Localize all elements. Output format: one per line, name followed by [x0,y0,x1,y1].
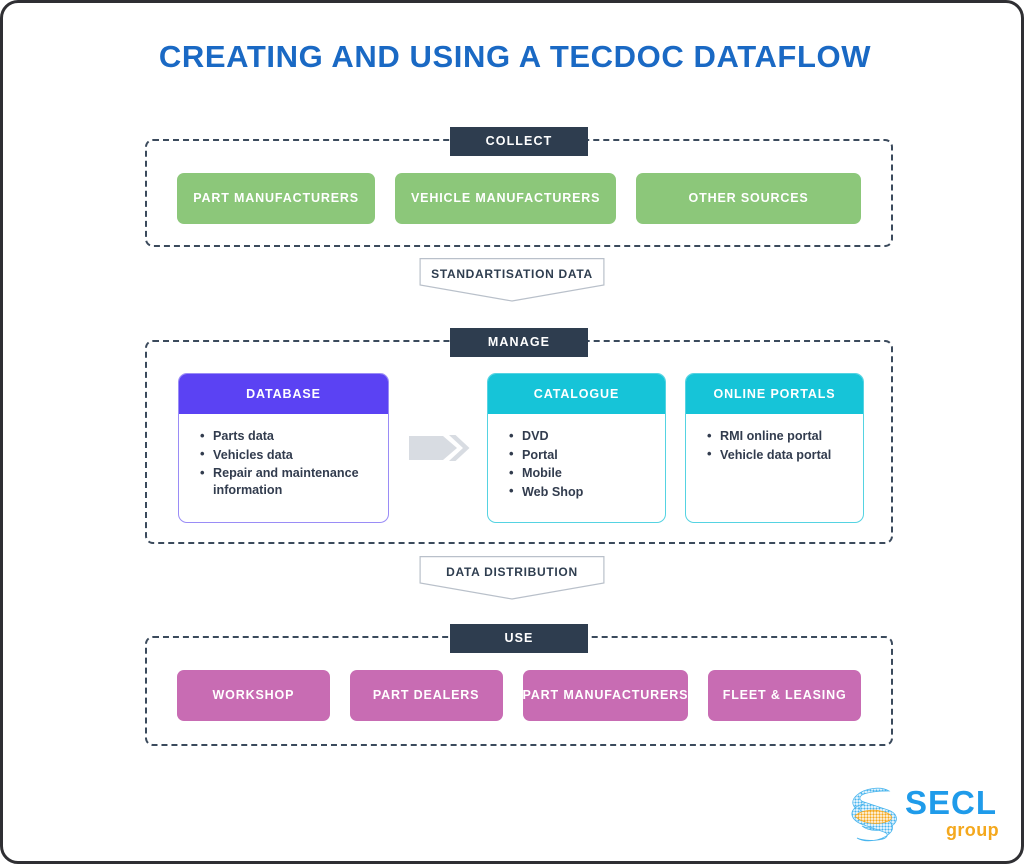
card-online-portals-body: RMI online portal Vehicle data portal [686,414,863,475]
card-database[interactable]: DATABASE Parts data Vehicles data Repair… [178,373,389,523]
card-catalogue-title: CATALOGUE [488,374,665,414]
stage-manage-header: MANAGE [450,328,588,357]
banner-data-distribution: DATA DISTRIBUTION [420,556,605,600]
use-pill-row: WORKSHOP PART DEALERS PART MANUFACTURERS… [177,670,861,721]
stage-manage: MANAGE DATABASE Parts data Vehicles data… [145,340,893,544]
card-database-list: Parts data Vehicles data Repair and main… [193,428,374,498]
list-item: Web Shop [522,484,651,501]
diagram-canvas: CREATING AND USING A TECDOC DATAFLOW COL… [0,0,1024,864]
use-pill-workshop[interactable]: WORKSHOP [177,670,330,721]
use-pill-fleet-leasing[interactable]: FLEET & LEASING [708,670,861,721]
list-item: Vehicle data portal [720,447,849,464]
banner-standardisation-label: STANDARTISATION DATA [420,258,605,291]
use-pill-part-dealers[interactable]: PART DEALERS [350,670,503,721]
stage-collect: COLLECT PART MANUFACTURERS VEHICLE MANUF… [145,139,893,247]
list-item: Vehicles data [213,447,374,464]
secl-group-logo: SECL group [845,784,997,848]
collect-pill-part-manufacturers[interactable]: PART MANUFACTURERS [177,173,375,224]
list-item: Mobile [522,465,651,482]
list-item: Parts data [213,428,374,445]
list-item: DVD [522,428,651,445]
stage-use: USE WORKSHOP PART DEALERS PART MANUFACTU… [145,636,893,746]
secl-logo-text: SECL group [905,786,1001,840]
card-catalogue-body: DVD Portal Mobile Web Shop [488,414,665,512]
card-online-portals-list: RMI online portal Vehicle data portal [700,428,849,463]
stage-collect-header: COLLECT [450,127,588,156]
card-online-portals[interactable]: ONLINE PORTALS RMI online portal Vehicle… [685,373,864,523]
stage-use-header: USE [450,624,588,653]
use-pill-part-manufacturers[interactable]: PART MANUFACTURERS [523,670,689,721]
card-catalogue-list: DVD Portal Mobile Web Shop [502,428,651,500]
collect-pill-other-sources[interactable]: OTHER SOURCES [636,173,861,224]
secl-s-ribbon-icon [845,786,901,844]
card-catalogue[interactable]: CATALOGUE DVD Portal Mobile Web Shop [487,373,666,523]
list-item: Portal [522,447,651,464]
collect-pill-vehicle-manufacturers[interactable]: VEHICLE MANUFACTURERS [395,173,616,224]
collect-pill-row: PART MANUFACTURERS VEHICLE MANUFACTURERS… [177,173,861,224]
banner-distribution-label: DATA DISTRIBUTION [420,556,605,589]
page-title: CREATING AND USING A TECDOC DATAFLOW [3,39,1024,75]
card-online-portals-title: ONLINE PORTALS [686,374,863,414]
banner-standardisation-data: STANDARTISATION DATA [420,258,605,302]
secl-subtitle: group [905,820,1001,840]
list-item: Repair and maintenance information [213,465,374,498]
card-database-body: Parts data Vehicles data Repair and main… [179,414,388,510]
right-block-arrow-icon [409,430,471,466]
secl-wordmark: SECL [905,786,1001,820]
list-item: RMI online portal [720,428,849,445]
card-database-title: DATABASE [179,374,388,414]
